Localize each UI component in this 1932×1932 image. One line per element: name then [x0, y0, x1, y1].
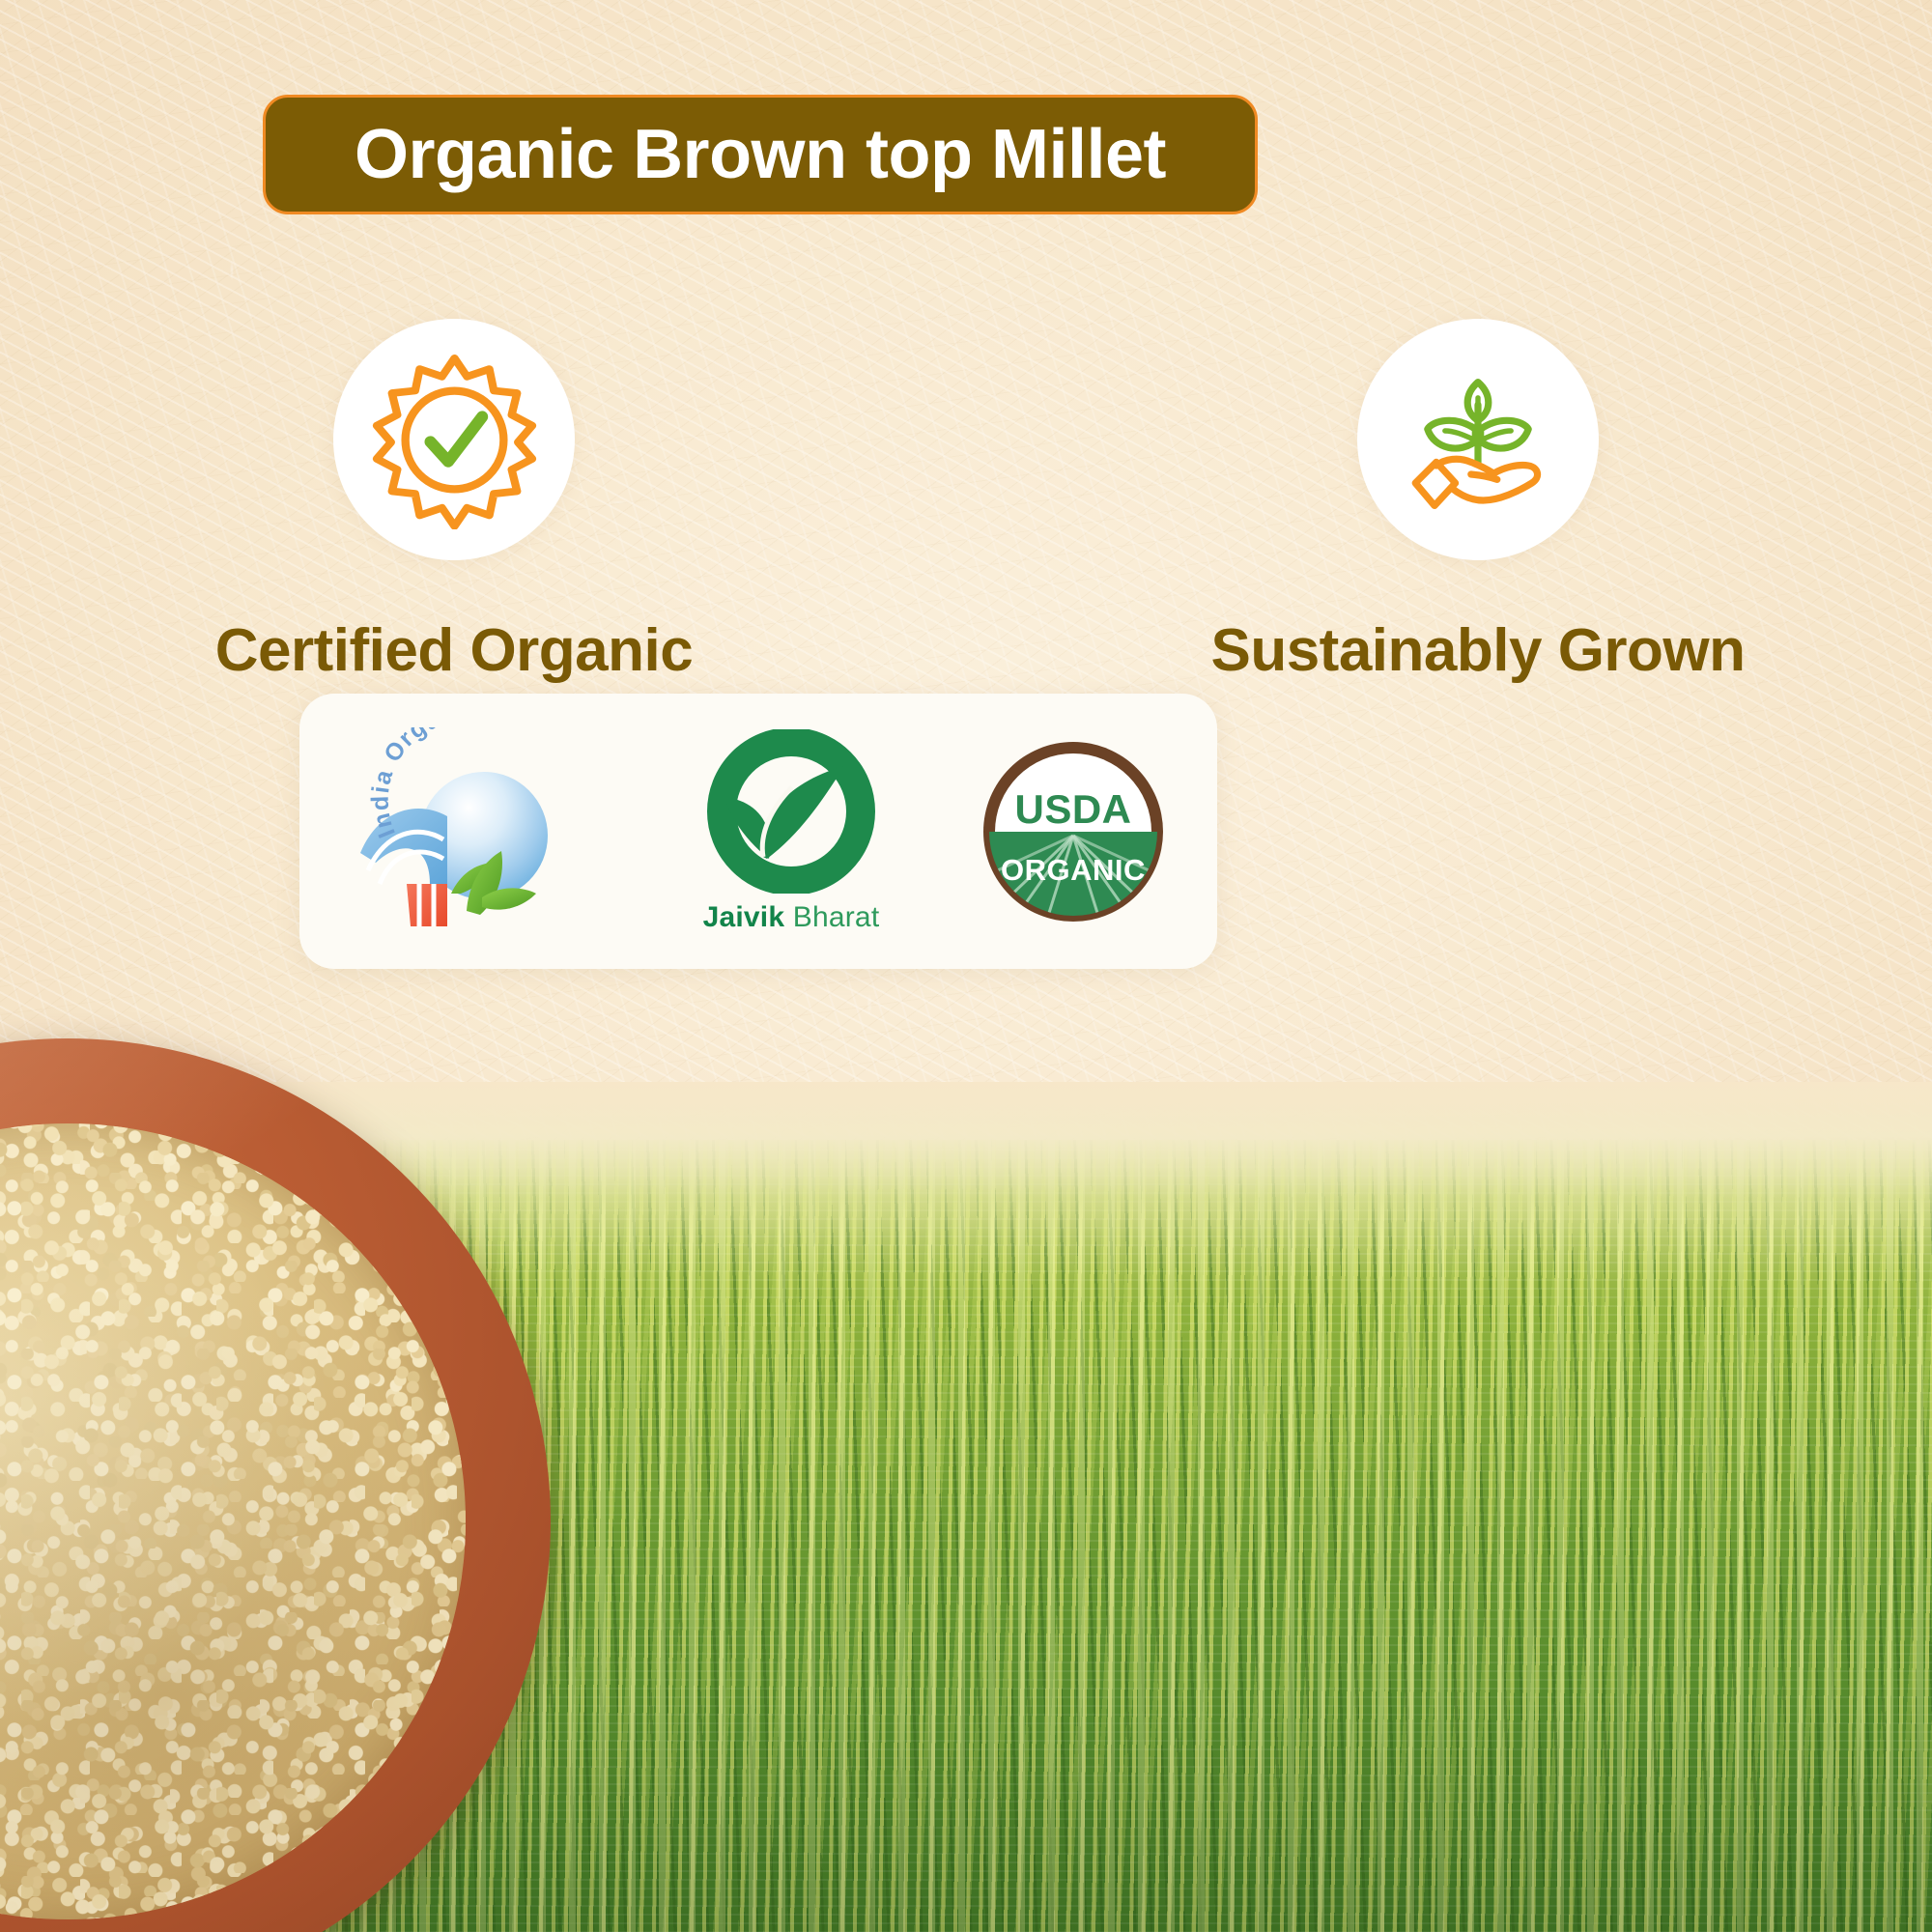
jaivik-bharat-label-bold: Jaivik — [703, 901, 785, 933]
bowl-interior — [0, 1123, 466, 1919]
jaivik-bharat-label: Jaivik Bharat — [703, 901, 880, 934]
certification-india-organic: India Organic — [347, 727, 606, 935]
certification-jaivik-bharat: Jaivik Bharat — [699, 729, 883, 934]
page-title: Organic Brown top Millet — [355, 115, 1166, 194]
millet-grains-shading — [0, 1123, 466, 1919]
usda-seal-line2: ORGANIC — [1001, 853, 1146, 887]
usda-seal-line1: USDA — [1015, 786, 1132, 832]
certification-usda-organic: USDA ORGANIC — [977, 735, 1170, 928]
feature-label-certified-organic: Certified Organic — [215, 616, 694, 685]
feature-certified-organic: Certified Organic — [116, 319, 792, 685]
usda-organic-seal: USDA ORGANIC — [977, 735, 1170, 928]
hand-holding-plant-icon — [1391, 353, 1565, 526]
jaivik-bharat-logo — [699, 729, 883, 894]
feature-icon-circle — [333, 319, 575, 560]
title-banner: Organic Brown top Millet — [263, 95, 1258, 214]
certified-rosette-check-icon — [365, 351, 544, 529]
millet-bowl-photo — [0, 1038, 551, 1932]
india-organic-logo: India Organic — [347, 727, 606, 935]
feature-icon-circle — [1357, 319, 1599, 560]
product-poster: Organic Brown top Millet Certified Organ… — [0, 0, 1932, 1932]
jaivik-bharat-label-light: Bharat — [793, 901, 880, 933]
feature-label-sustainably-grown: Sustainably Grown — [1210, 616, 1745, 685]
certification-card: India Organic Jaivik Bharat — [299, 694, 1217, 969]
feature-badge-row: Certified Organic — [116, 319, 1816, 685]
feature-sustainably-grown: Sustainably Grown — [1140, 319, 1816, 685]
